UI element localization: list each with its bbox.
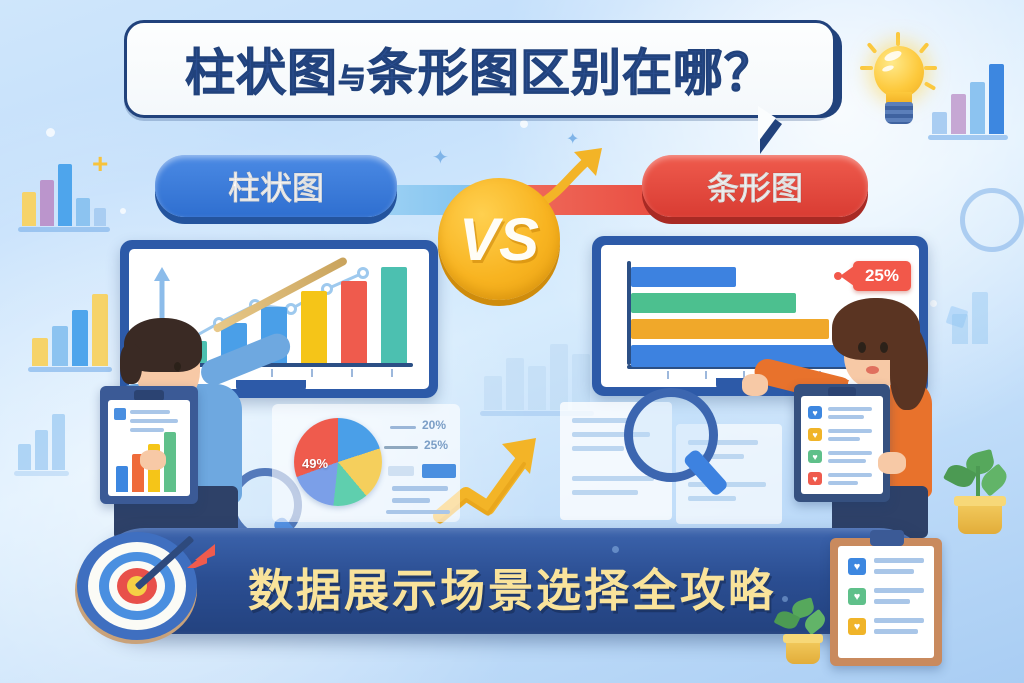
page-title-card: 柱状图与条形图区别在哪？	[124, 20, 836, 118]
person-presenter-female: ♥ ♥ ♥ ♥	[786, 288, 974, 538]
decor-ring	[960, 188, 1024, 252]
checkbox-icon: ♥	[848, 588, 866, 605]
page-title: 柱状图与条形图区别在哪？	[185, 33, 775, 105]
axis-tick	[667, 371, 669, 379]
male-arm-right	[197, 330, 294, 389]
bar-row	[631, 267, 736, 287]
vs-label: VS	[459, 205, 539, 274]
speech-bubble-tail-inner	[758, 106, 776, 142]
checkbox-icon: ♥	[808, 428, 822, 441]
plant-icon-small	[778, 600, 826, 666]
legend-line	[384, 446, 418, 449]
male-hand	[140, 450, 166, 470]
axis-tick	[391, 369, 393, 377]
female-hand	[878, 452, 906, 474]
male-hair-side	[120, 344, 142, 384]
axis-tick	[311, 369, 313, 377]
clipboard-bar	[116, 466, 128, 492]
decor-plus-icon: ✦	[432, 148, 449, 168]
compare-chip-bar-chart[interactable]: 条形图	[642, 155, 868, 217]
pie-chart-panel: 49% 20% 25%	[272, 404, 460, 522]
page-title-conj: 与	[338, 63, 367, 94]
legend-line	[390, 426, 416, 429]
female-hand-pointing	[742, 374, 768, 396]
decor-mini-bar-chart-left-faded	[18, 410, 65, 470]
panel-line	[392, 498, 430, 503]
lightbulb-icon	[866, 40, 932, 136]
female-eye	[880, 342, 888, 353]
legend-label-25: 25%	[424, 438, 448, 452]
female-hair-side	[890, 324, 928, 410]
column-bar	[301, 291, 327, 363]
panel-line	[386, 510, 450, 514]
checkbox-icon: ♥	[848, 618, 866, 635]
compare-chip-bar-label: 条形图	[707, 163, 803, 209]
page-title-left: 柱状图	[185, 45, 338, 101]
compare-chip-column-label: 柱状图	[228, 163, 324, 209]
person-presenter-male	[96, 300, 286, 540]
plant-icon	[948, 452, 1010, 538]
female-eye	[858, 342, 866, 353]
column-bar	[381, 267, 407, 363]
compare-chip-column-chart[interactable]: 柱状图	[155, 155, 397, 217]
decor-fleck	[46, 128, 55, 137]
decor-fleck	[520, 120, 528, 128]
panel-line	[422, 464, 456, 478]
decor-mini-bar-chart-top-right	[932, 62, 1004, 134]
checkbox-icon: ♥	[808, 472, 822, 485]
axis-tick	[351, 369, 353, 377]
discount-badge: 25%	[853, 261, 911, 291]
poster-canvas: + ✦ ✦	[0, 0, 1024, 683]
male-eye	[174, 362, 181, 371]
vs-badge: VS	[438, 178, 560, 300]
axis-tick	[705, 371, 707, 379]
panel-line	[392, 486, 448, 491]
checkbox-icon: ♥	[848, 558, 866, 575]
panel-line	[388, 466, 414, 476]
checkbox-icon: ♥	[808, 450, 822, 463]
checkbox-icon: ♥	[808, 406, 822, 419]
column-bar	[341, 281, 367, 363]
decor-mini-bar-chart-mid	[484, 330, 590, 410]
legend-label-20: 20%	[422, 418, 446, 432]
trend-arrow-icon	[536, 146, 614, 208]
discount-badge-label: 25%	[865, 266, 899, 286]
decor-mini-bar-chart-left-top	[22, 160, 106, 226]
clipboard-icon-badge	[114, 408, 126, 420]
female-mouth	[866, 366, 879, 374]
decor-fleck	[120, 208, 126, 214]
clipboard-bottom-right: ♥ ♥ ♥	[830, 538, 942, 666]
clipboard-female: ♥ ♥ ♥ ♥	[794, 384, 890, 502]
clipboard-male	[100, 386, 198, 504]
page-title-right: 条形图区别在哪？	[367, 45, 775, 101]
pie-label-49: 49%	[302, 456, 328, 471]
bar-row	[631, 293, 796, 313]
magnifier-icon-mid	[618, 388, 728, 498]
target-icon	[75, 532, 207, 650]
